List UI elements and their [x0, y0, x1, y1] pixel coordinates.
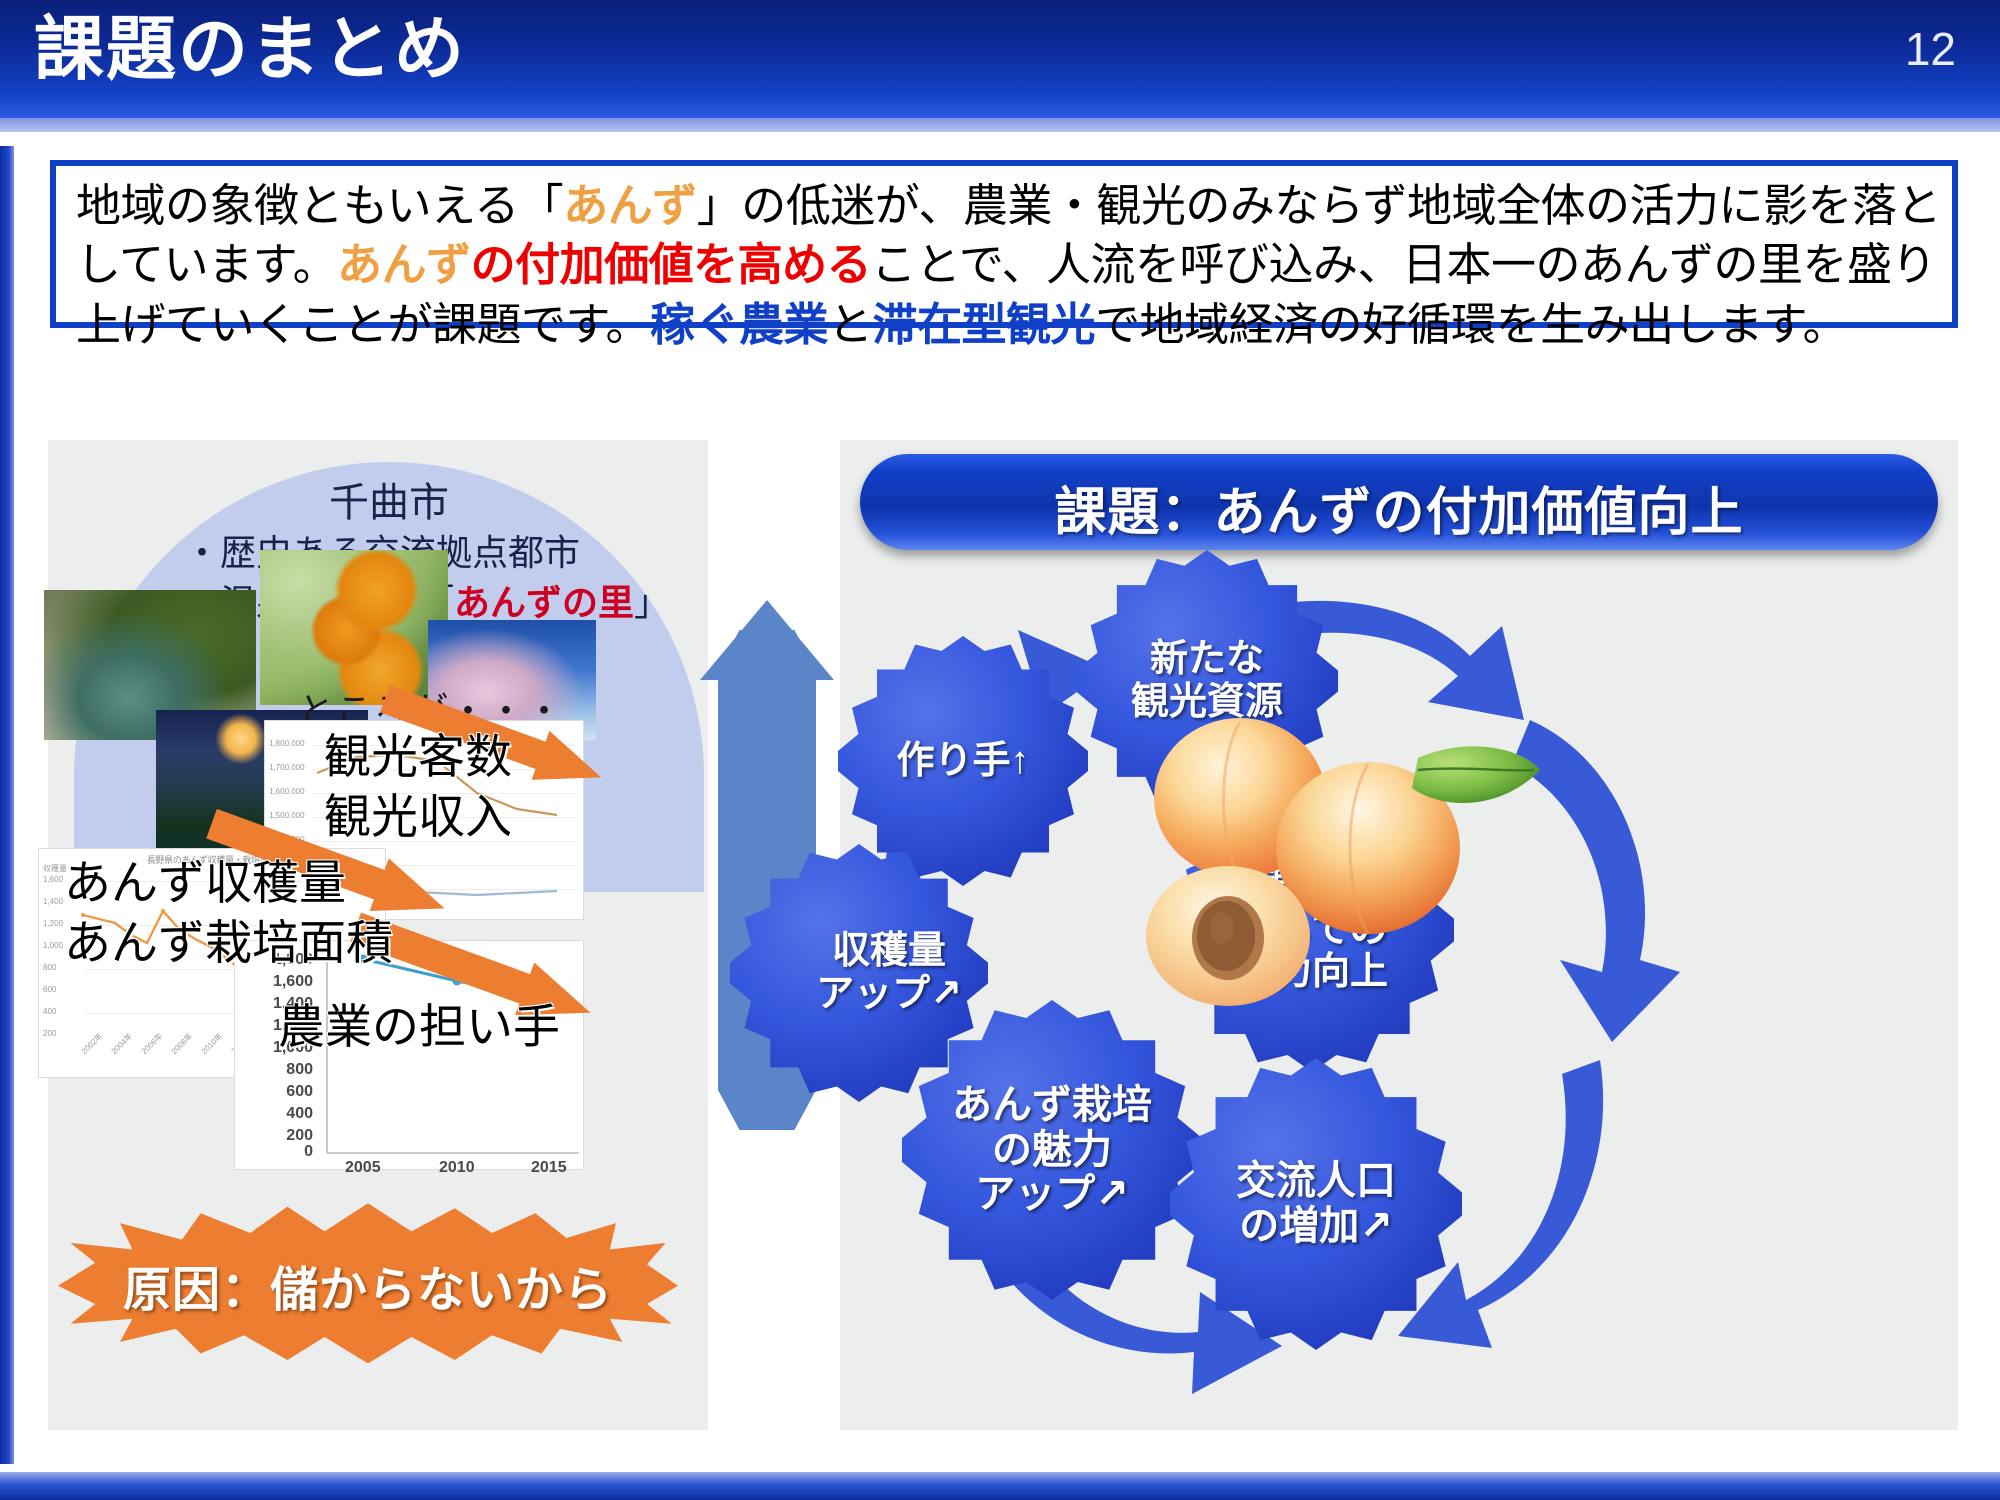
gear-cultivate-line1: あんず栽培	[952, 1083, 1152, 1128]
summary-line1-part-c: 」の低迷が、農業・観光のみならず地域全体の活力に影を落と	[697, 180, 1941, 231]
overlay-label-tourism-income: 観光収入	[324, 778, 512, 847]
gear-cultivate-line2: の魅力	[952, 1128, 1152, 1173]
right-panel: 課題：あんずの付加価値向上 新たな 観光資源 作り手↑	[840, 440, 1958, 1430]
cause-starburst: 原因：儲からないから	[58, 1200, 678, 1365]
summary-line2-part-a: しています。	[76, 239, 337, 290]
summary-line-2: しています。あんずの付加価値を高めることで、人流を呼び込み、日本一のあんずの里を…	[76, 235, 1932, 294]
summary-line-3: 上げていくことが課題です。稼ぐ農業と滞在型観光で地域経済の好循環を生み出します。	[76, 295, 1932, 354]
gear-harvest-line1: 収穫量	[816, 930, 962, 973]
gear-spot-line3: 魅力向上	[1236, 951, 1388, 994]
gear-pop-line1: 交流人口	[1236, 1159, 1396, 1204]
overlay-label-harvest: あんず収穫量	[64, 844, 346, 913]
city-name-label: 千曲市	[74, 470, 704, 528]
gear-spot-line1: 観光地	[1236, 866, 1388, 909]
gear-maker-line1: 作り手↑	[896, 740, 1029, 783]
overlay-label-farmers: 農業の担い手	[278, 988, 560, 1057]
header-underline	[0, 118, 2000, 132]
city-bullet-2-post: 」	[634, 582, 670, 623]
overlay-label-tourists: 観光客数	[324, 718, 512, 787]
gear-spot-line2: としての	[1236, 909, 1388, 952]
summary-line3-part-a: 上げていくことが課題です。	[76, 299, 650, 350]
slide-header: 課題のまとめ 12	[0, 0, 2000, 118]
page-number: 12	[1905, 22, 1956, 76]
gear-new-line2: 観光資源	[1131, 681, 1283, 724]
summary-line3-highlight-farming: 稼ぐ農業	[650, 299, 828, 350]
summary-line3-part-c: と	[828, 299, 873, 350]
left-panel: 千曲市 ・歴史ある交流拠点都市 ・温泉、棚田、「あんずの里」 ところが・・・ 1…	[48, 440, 708, 1430]
summary-line3-part-e: で地域経済の好循環を生み出します。	[1095, 299, 1847, 350]
overlay-label-area: あんず栽培面積	[64, 904, 393, 973]
slide-root: 課題のまとめ 12 地域の象徴ともいえる「あんず」の低迷が、農業・観光のみならず…	[0, 0, 2000, 1500]
summary-line-1: 地域の象徴ともいえる「あんず」の低迷が、農業・観光のみならず地域全体の活力に影を…	[76, 176, 1932, 235]
left-frame-bar	[0, 0, 14, 1500]
bottom-frame-bar	[0, 1472, 2000, 1500]
city-bullet-2-highlight: あんずの里	[454, 582, 634, 623]
summary-line3-highlight-tourism: 滞在型観光	[873, 299, 1096, 350]
cause-label: 原因：儲からないから	[58, 1250, 678, 1320]
summary-textbox: 地域の象徴ともいえる「あんず」の低迷が、農業・観光のみならず地域全体の活力に影を…	[50, 160, 1958, 328]
summary-line2-highlight-red: の付加価値を高める	[471, 239, 872, 290]
gear-cultivate-line3: アップ↗	[952, 1172, 1152, 1217]
summary-line2-part-d: ことで、人流を呼び込み、日本一のあんずの里を盛り	[871, 239, 1936, 290]
header-gap	[0, 132, 2000, 146]
summary-line2-highlight-orange: あんず	[337, 239, 471, 290]
page-title: 課題のまとめ	[34, 14, 466, 84]
gear-new-line1: 新たな	[1131, 638, 1283, 681]
summary-line1-part-a: 地域の象徴ともいえる「	[76, 180, 563, 231]
gear-pop-line2: の増加↗	[1236, 1204, 1396, 1249]
bottom-frame-gap	[0, 1464, 2000, 1472]
summary-line1-highlight: あんず	[563, 180, 697, 231]
gear-harvest-line2: アップ↗	[816, 973, 962, 1016]
